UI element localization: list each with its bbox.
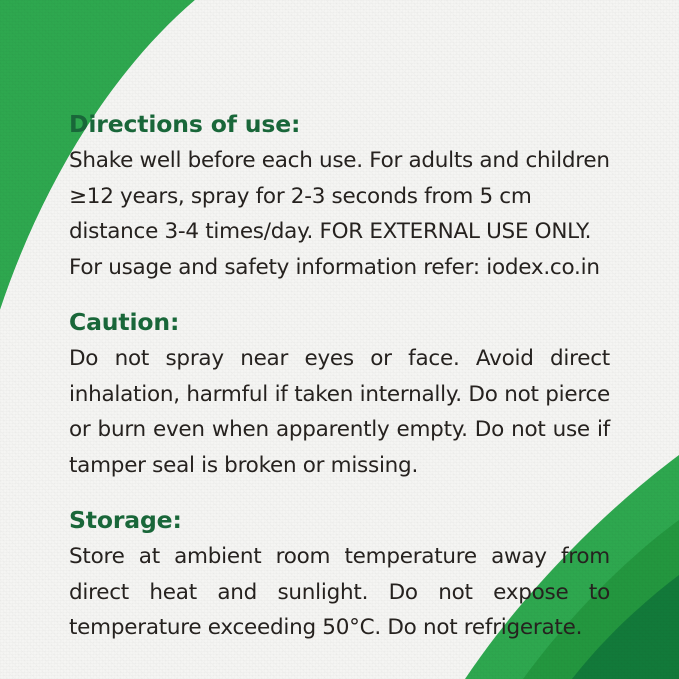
storage-heading: Storage:	[69, 504, 610, 536]
section-storage: Storage: Store at ambient room temperatu…	[69, 504, 610, 646]
section-caution: Caution: Do not spray near eyes or face.…	[69, 306, 610, 483]
label-text-content: Directions of use: Shake well before eac…	[69, 108, 610, 646]
storage-body: Store at ambient room temperature away f…	[69, 539, 610, 646]
directions-of-use-heading: Directions of use:	[69, 108, 610, 140]
product-label-card: Directions of use: Shake well before eac…	[0, 0, 679, 679]
caution-body: Do not spray near eyes or face. Avoid di…	[69, 341, 610, 483]
section-directions-of-use: Directions of use: Shake well before eac…	[69, 108, 610, 285]
directions-of-use-body: Shake well before each use. For adults a…	[69, 143, 610, 285]
caution-heading: Caution:	[69, 306, 610, 338]
